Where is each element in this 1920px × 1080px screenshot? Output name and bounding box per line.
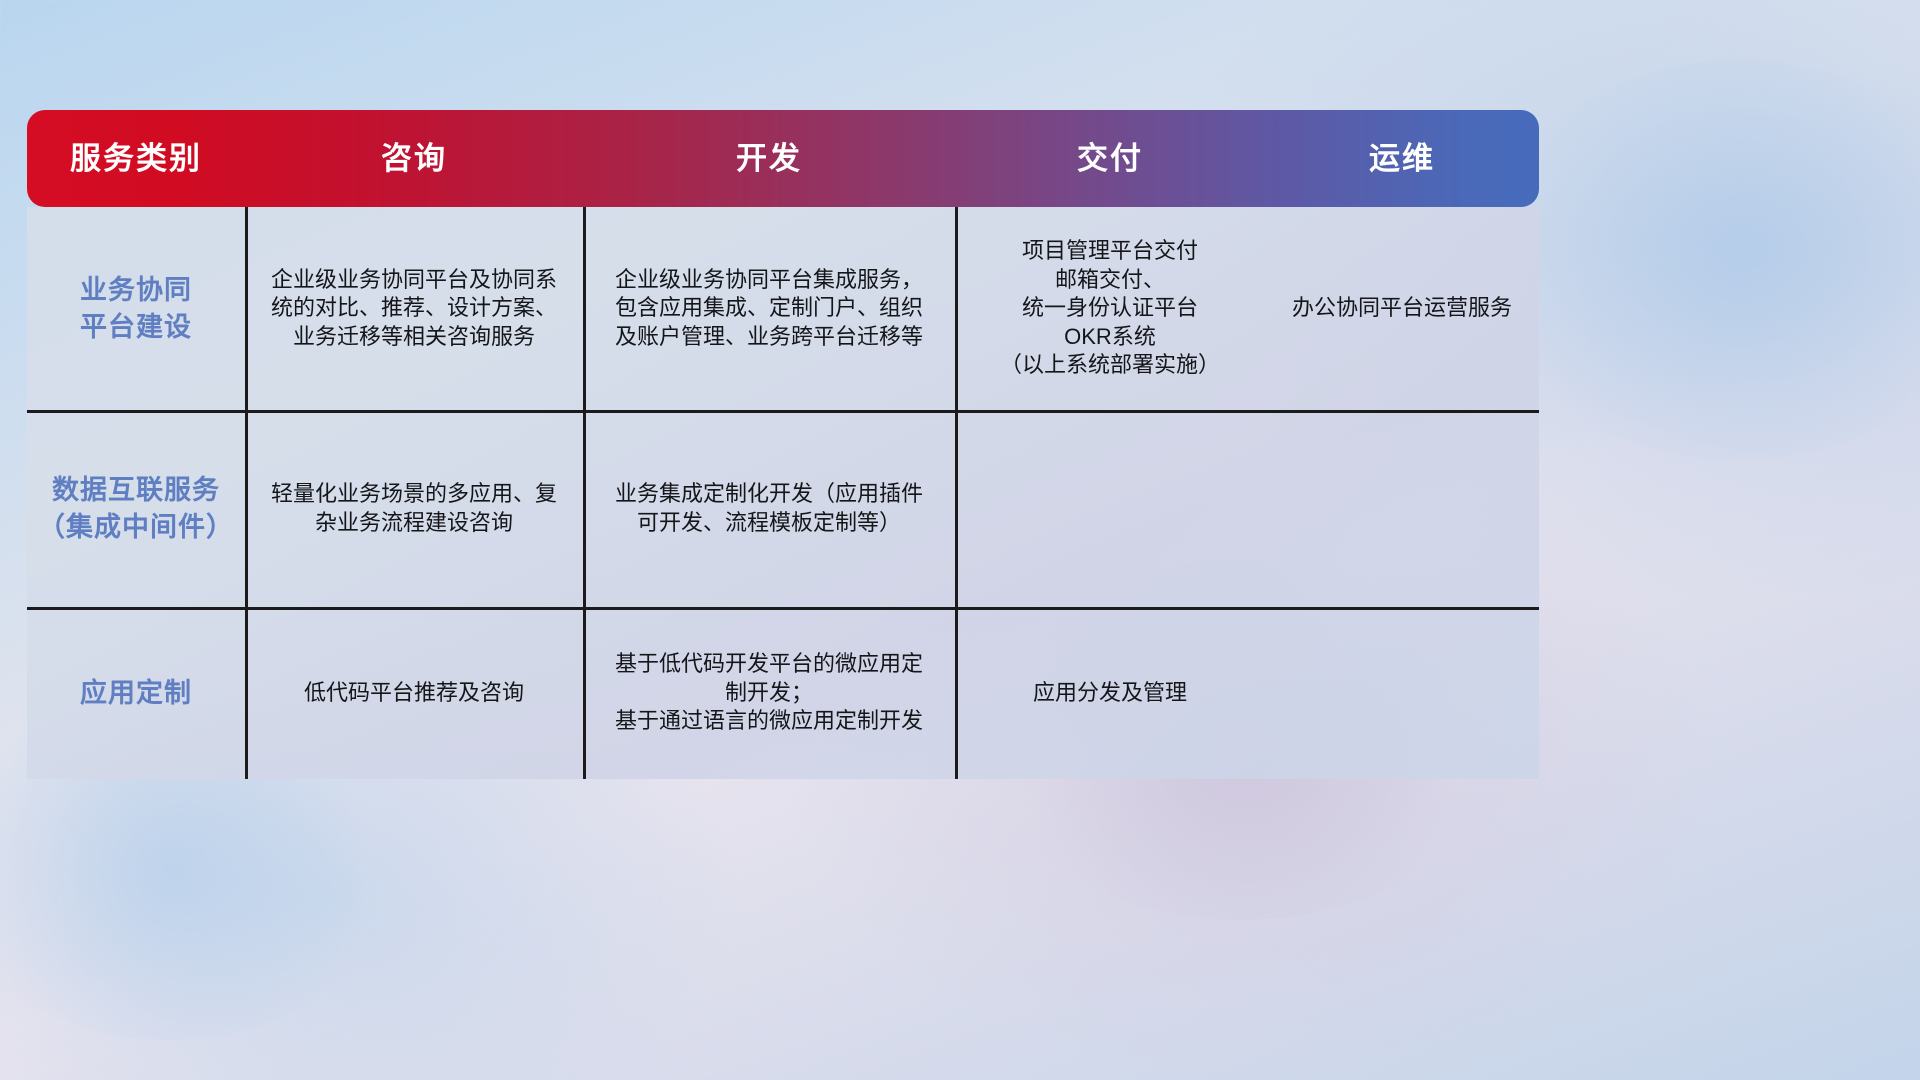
column-header-development: 开发 bbox=[583, 143, 955, 174]
cell-consulting: 轻量化业务场景的多应用、复 杂业务流程建设咨询 bbox=[245, 410, 583, 607]
service-matrix-table: 服务类别 咨询 开发 交付 运维 业务协同 平台建设 企业级业务协同平台及协同系… bbox=[27, 110, 1539, 782]
cell-operations: 办公协同平台运营服务 bbox=[1265, 207, 1539, 410]
cell-development: 企业级业务协同平台集成服务， 包含应用集成、定制门户、组织 及账户管理、业务跨平… bbox=[583, 207, 955, 410]
column-header-service-category: 服务类别 bbox=[27, 143, 245, 174]
table-row: 应用定制 低代码平台推荐及咨询 基于低代码开发平台的微应用定 制开发； 基于通过… bbox=[27, 607, 1539, 779]
table-row: 数据互联服务 （集成中间件） 轻量化业务场景的多应用、复 杂业务流程建设咨询 业… bbox=[27, 410, 1539, 607]
cell-consulting: 低代码平台推荐及咨询 bbox=[245, 607, 583, 779]
table-body: 业务协同 平台建设 企业级业务协同平台及协同系 统的对比、推荐、设计方案、 业务… bbox=[27, 207, 1539, 779]
table-header-row: 服务类别 咨询 开发 交付 运维 bbox=[27, 110, 1539, 207]
row-label-cell: 数据互联服务 （集成中间件） bbox=[27, 410, 245, 607]
row-label-business-collaboration: 业务协同 平台建设 bbox=[80, 272, 192, 345]
cell-development: 基于低代码开发平台的微应用定 制开发； 基于通过语言的微应用定制开发 bbox=[583, 607, 955, 779]
column-header-delivery: 交付 bbox=[955, 143, 1265, 174]
cell-consulting: 企业级业务协同平台及协同系 统的对比、推荐、设计方案、 业务迁移等相关咨询服务 bbox=[245, 207, 583, 410]
cell-development: 业务集成定制化开发（应用插件 可开发、流程模板定制等） bbox=[583, 410, 955, 607]
column-header-operations: 运维 bbox=[1265, 143, 1539, 174]
column-header-consulting: 咨询 bbox=[245, 143, 583, 174]
row-label-cell: 应用定制 bbox=[27, 607, 245, 779]
cell-operations bbox=[1265, 607, 1539, 779]
background-glow-top-right bbox=[1480, 60, 1920, 460]
row-label-cell: 业务协同 平台建设 bbox=[27, 207, 245, 410]
row-label-application-customization: 应用定制 bbox=[80, 675, 192, 711]
cell-delivery bbox=[955, 410, 1265, 607]
cell-operations bbox=[1265, 410, 1539, 607]
table-row: 业务协同 平台建设 企业级业务协同平台及协同系 统的对比、推荐、设计方案、 业务… bbox=[27, 207, 1539, 410]
slide-canvas: 服务类别 咨询 开发 交付 运维 业务协同 平台建设 企业级业务协同平台及协同系… bbox=[0, 0, 1920, 1080]
cell-delivery: 应用分发及管理 bbox=[955, 607, 1265, 779]
row-label-data-interconnect: 数据互联服务 （集成中间件） bbox=[38, 472, 234, 545]
cell-delivery: 项目管理平台交付 邮箱交付、 统一身份认证平台 OKR系统 （以上系统部署实施） bbox=[955, 207, 1265, 410]
